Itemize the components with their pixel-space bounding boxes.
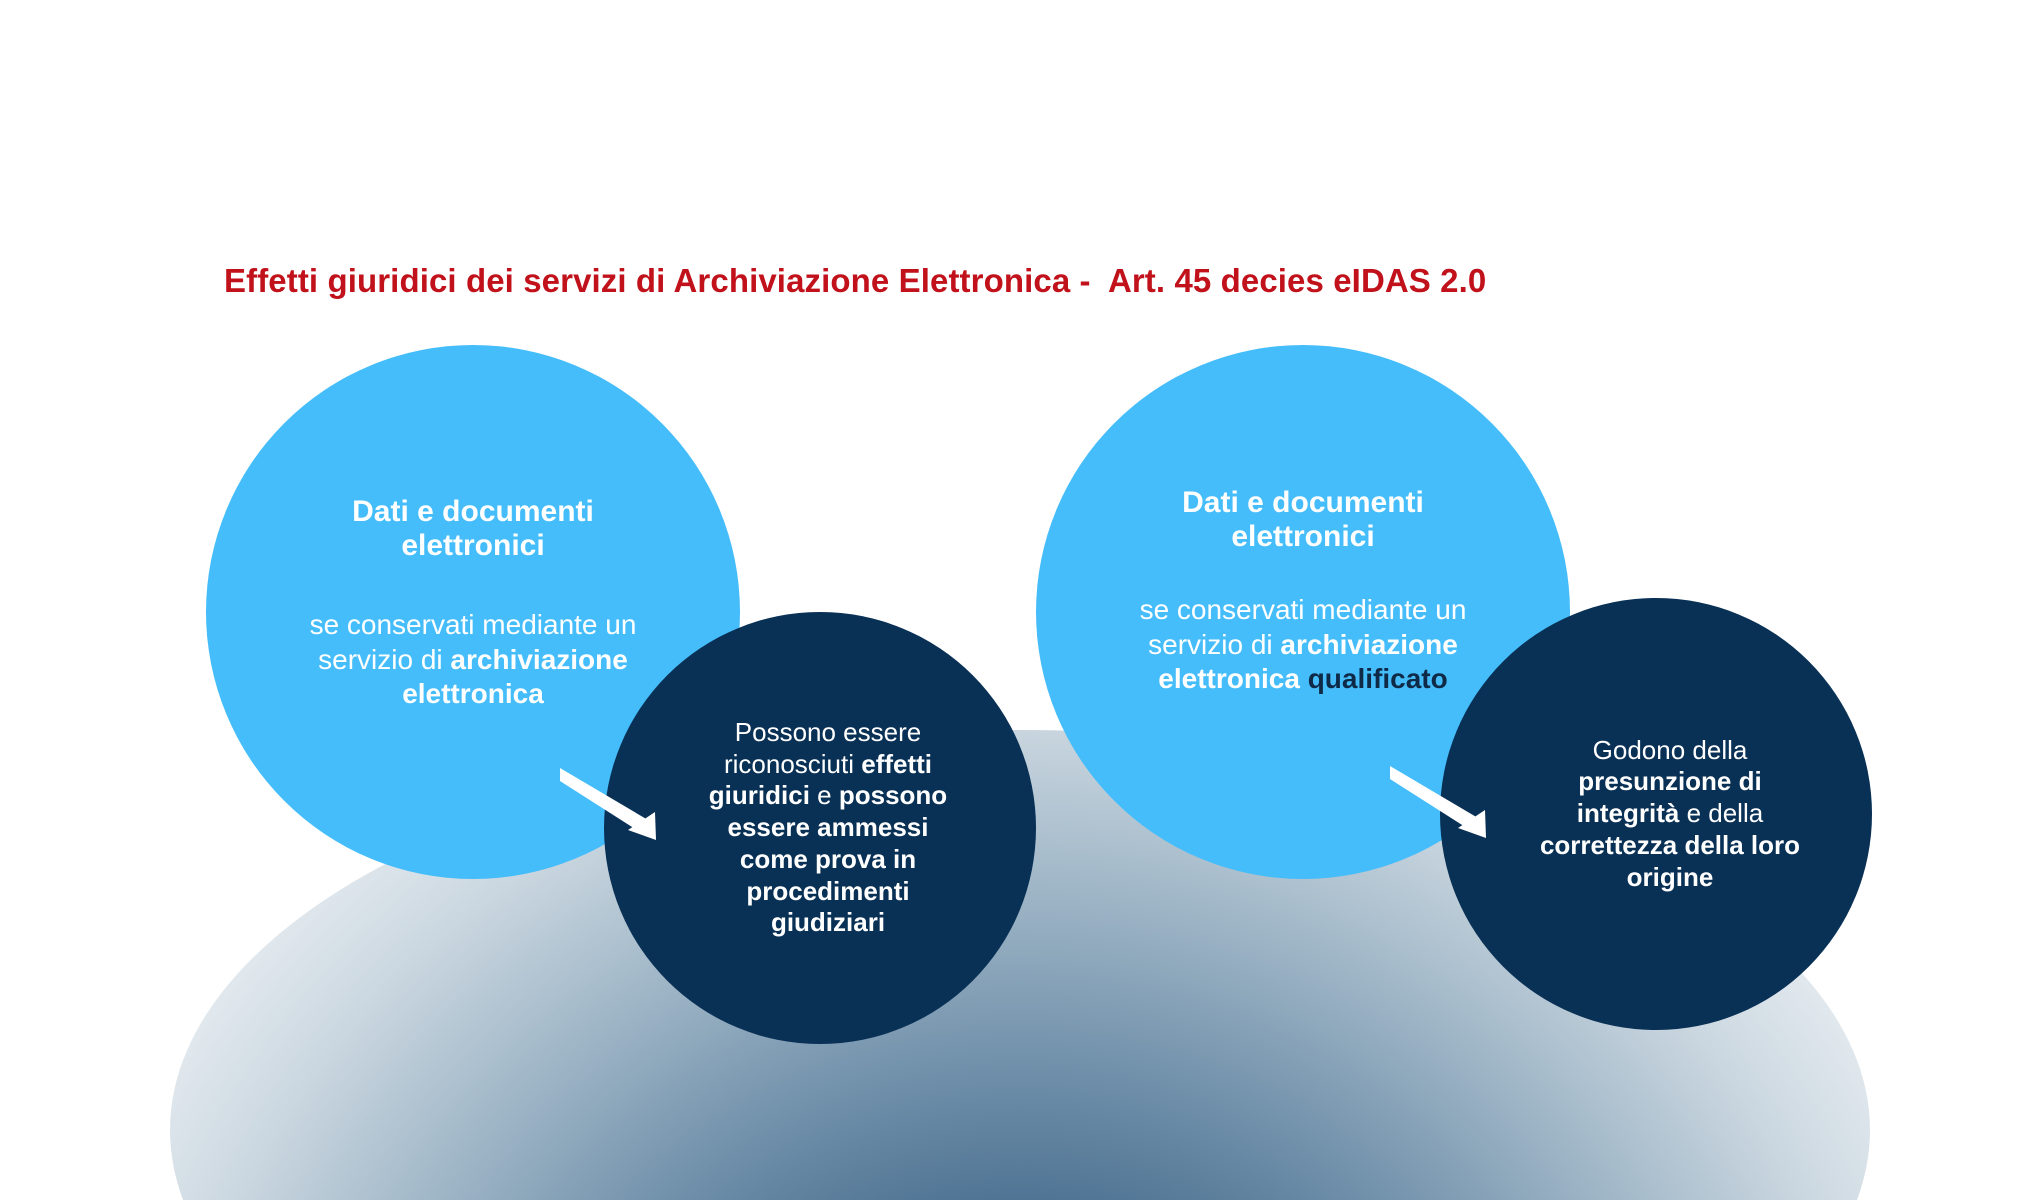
source-body-qualified-right: qualificato (1308, 663, 1448, 694)
page-title: Effetti giuridici dei servizi di Archivi… (224, 262, 1486, 300)
source-body-right: se conservati mediante un servizio di ar… (1138, 593, 1468, 695)
result-line1-right: Godono della (1593, 735, 1748, 765)
source-heading-right: Dati e documenti elettronici (1133, 486, 1473, 553)
result-text-left: Possono essere riconosciuti effetti giur… (693, 717, 963, 939)
result-mid1-right: e della (1679, 798, 1763, 828)
slide-canvas: Effetti giuridici dei servizi di Archivi… (0, 0, 2040, 1200)
source-body-suffix-right (1300, 663, 1308, 694)
result-text-right: Godono della presunzione di integrità e … (1535, 735, 1805, 894)
result-circle-right: Godono della presunzione di integrità e … (1440, 598, 1872, 1030)
source-heading-left: Dati e documenti elettronici (303, 495, 643, 562)
source-body-left: se conservati mediante un servizio di ar… (308, 608, 638, 710)
result-mid1-left: e (810, 780, 839, 810)
result-bold2-right: correttezza della loro origine (1540, 830, 1800, 892)
result-circle-left: Possono essere riconosciuti effetti giur… (604, 612, 1036, 1044)
